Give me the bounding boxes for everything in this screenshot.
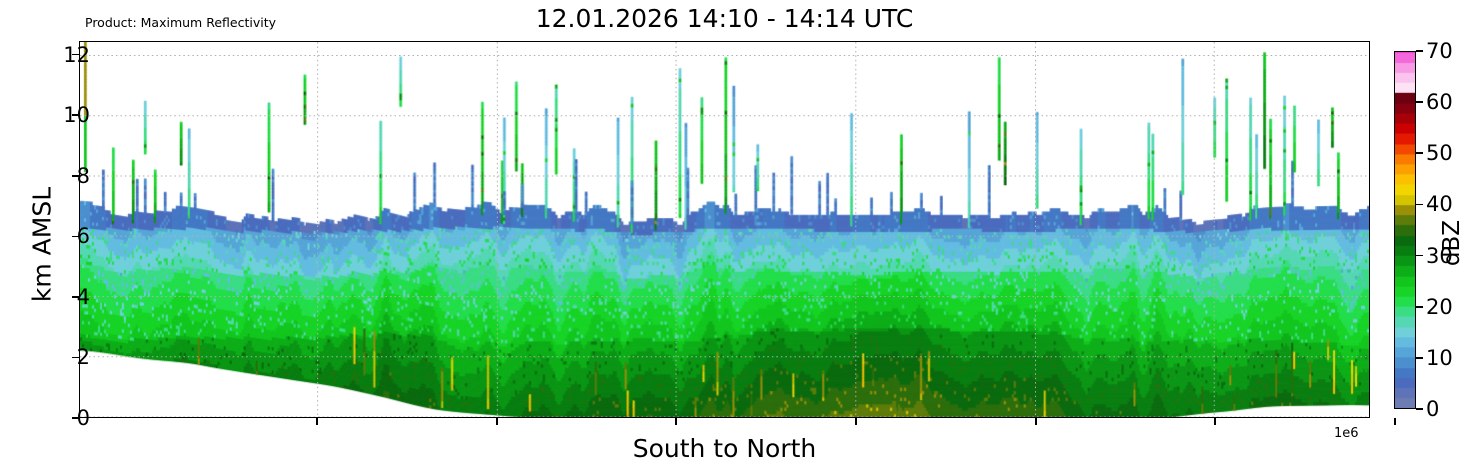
colorbar-tick-mark [1416,357,1423,359]
x-axis-offset-text: 1e6 [1334,426,1359,441]
colorbar-tick-mark [1416,50,1423,52]
colorbar-tick-label: 0 [1426,397,1439,421]
y-tick-label: 4 [77,285,90,309]
colorbar-tick-label: 10 [1426,346,1453,370]
product-subtitle: Product: Maximum Reflectivity [85,15,276,30]
colorbar [1394,51,1416,409]
colorbar-tick-label: 40 [1426,192,1453,216]
y-tick-label: 10 [63,103,90,127]
y-tick-label: 6 [77,224,90,248]
x-tick-mark [855,418,857,425]
x-tick-mark [675,418,677,425]
colorbar-tick-mark [1416,204,1423,206]
colorbar-tick-label: 20 [1426,295,1453,319]
colorbar-tick-mark [1416,255,1423,257]
x-tick-mark [1394,418,1396,425]
colorbar-tick-label: 50 [1426,141,1453,165]
x-axis-label: South to North [79,434,1370,463]
y-tick-label: 8 [77,164,90,188]
x-tick-mark [496,418,498,425]
y-tick-label: 0 [77,406,90,430]
y-axis-label: km AMSL [28,125,57,365]
colorbar-tick-label: 70 [1426,39,1453,63]
y-tick-label: 2 [77,345,90,369]
radar-cross-section-figure: 12.01.2026 14:10 - 14:14 UTC Product: Ma… [0,0,1482,470]
y-tick-label: 12 [63,43,90,67]
colorbar-tick-mark [1416,306,1423,308]
x-tick-mark [1214,418,1216,425]
colorbar-tick-mark [1416,152,1423,154]
x-tick-mark [316,418,318,425]
colorbar-tick-label: 30 [1426,244,1453,268]
reflectivity-heatmap-canvas [80,42,1369,417]
colorbar-tick-mark [1416,101,1423,103]
colorbar-tick-label: 60 [1426,90,1453,114]
x-tick-mark [1035,418,1037,425]
colorbar-tick-mark [1416,408,1423,410]
colorbar-canvas [1394,51,1416,409]
plot-area [79,41,1370,418]
